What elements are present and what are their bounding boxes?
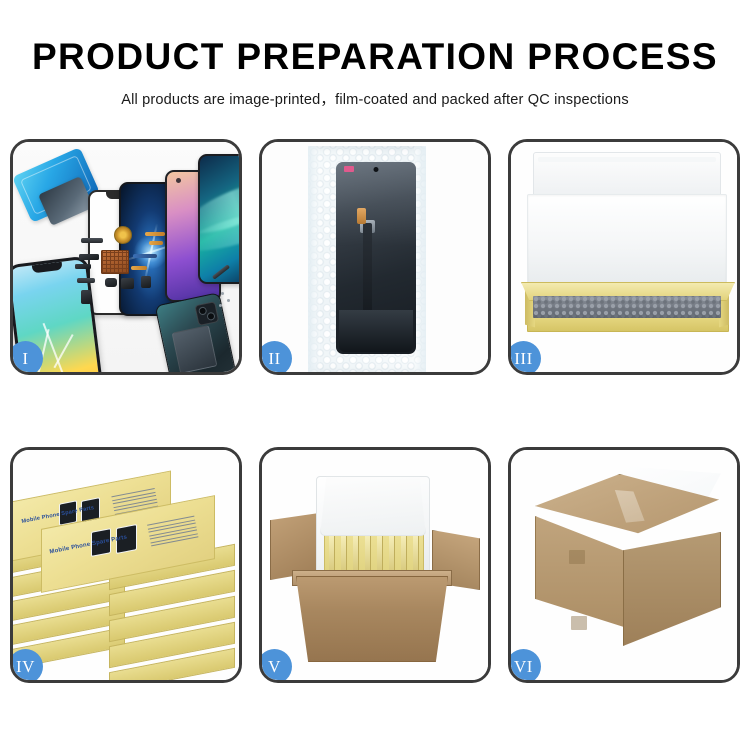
battery-module	[172, 325, 218, 372]
step-image-6: VI	[511, 450, 737, 680]
earpiece-speaker	[121, 278, 134, 289]
camera-module	[194, 301, 219, 326]
speaker-module	[81, 238, 103, 243]
sim-card-holder	[81, 290, 91, 304]
kraft-tray	[521, 282, 733, 332]
wireless-charging-coil	[114, 226, 132, 244]
lightning-graphic	[134, 235, 168, 269]
white-foam-sheet	[527, 194, 727, 292]
carton-seam-patch-top	[569, 550, 585, 564]
step-panel-5[interactable]: V	[259, 447, 491, 683]
flex-cable-3	[133, 254, 157, 258]
sim-tray-part	[141, 276, 151, 288]
vibration-motor	[105, 278, 117, 287]
step-panel-3[interactable]: III	[508, 139, 740, 375]
steps-grid: I	[10, 139, 740, 684]
connector-strip-2	[75, 264, 91, 269]
screw-1	[221, 292, 224, 295]
bag-seam-left	[308, 146, 320, 372]
product-preparation-infographic: PRODUCT PREPARATION PROCESS All products…	[0, 0, 750, 750]
screw-organizer-tray	[101, 250, 129, 274]
step-panel-4[interactable]: Mobile Phone Spare Parts Mobile Phone Sp…	[10, 447, 242, 683]
pink-qc-sticker	[344, 166, 354, 172]
header: PRODUCT PREPARATION PROCESS All products…	[0, 0, 750, 109]
page-subtitle: All products are image-printed，film-coat…	[0, 77, 750, 109]
flex-cable-2	[149, 241, 163, 245]
carton-seam-patch-bottom	[571, 616, 587, 630]
step-image-4: Mobile Phone Spare Parts Mobile Phone Sp…	[13, 450, 239, 680]
lcd-upper-sheen	[336, 162, 416, 246]
step-image-5: V	[262, 450, 488, 680]
step-image-1: I	[13, 142, 239, 372]
connector-strip	[79, 254, 99, 260]
front-camera-hole	[374, 167, 379, 172]
flex-cable-1	[145, 232, 165, 236]
step-panel-1[interactable]: I	[10, 139, 242, 375]
teal-gradient-phone	[198, 154, 239, 284]
page-title: PRODUCT PREPARATION PROCESS	[0, 0, 750, 77]
lcd-lower-bezel	[339, 310, 413, 352]
step-panel-2[interactable]: II	[259, 139, 491, 375]
flex-cable-4	[131, 266, 147, 270]
antenna-strip	[77, 278, 95, 283]
wrapped-lcd-assembly	[336, 162, 416, 354]
screw-3	[219, 304, 222, 307]
gray-foam-padding	[533, 296, 721, 318]
carton-body	[296, 576, 448, 662]
tan-tape-1	[357, 208, 366, 224]
screw-2	[227, 299, 230, 302]
step-panel-6[interactable]: VI	[508, 447, 740, 683]
screen-crack-3	[53, 334, 73, 368]
step-image-2: II	[262, 142, 488, 372]
step-image-3: III	[511, 142, 737, 372]
notch-shape-large	[32, 262, 63, 274]
foam-box-lid	[320, 476, 426, 536]
